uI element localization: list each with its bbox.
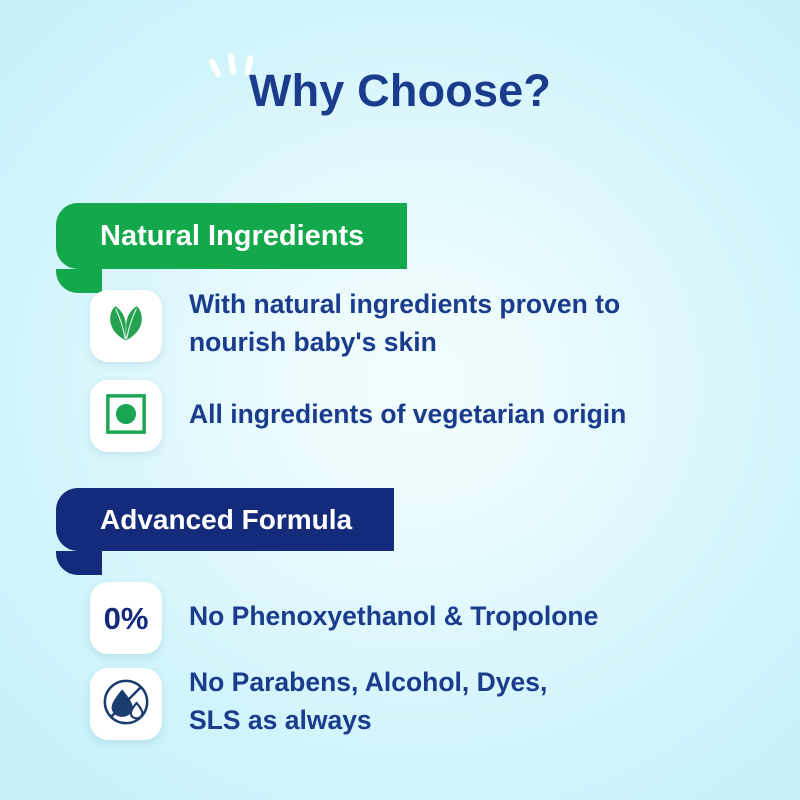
feature-row: With natural ingredients proven to nouri… <box>90 290 620 362</box>
sparkle-icon <box>206 52 266 92</box>
leaves-icon <box>103 301 149 352</box>
feature-text: All ingredients of vegetarian origin <box>189 396 626 434</box>
banner-tail <box>56 551 102 575</box>
icon-card <box>90 380 162 452</box>
feature-row: 0% No Phenoxyethanol & Tropolone <box>90 582 598 654</box>
no-water-drop-icon <box>101 677 151 732</box>
feature-text: No Parabens, Alcohol, Dyes, SLS as alway… <box>189 664 547 739</box>
section-banner-advanced-formula: Advanced Formula <box>56 488 394 551</box>
feature-text: With natural ingredients proven to nouri… <box>189 286 620 361</box>
icon-card <box>90 290 162 362</box>
feature-text: No Phenoxyethanol & Tropolone <box>189 598 598 636</box>
section-title-advanced-formula: Advanced Formula <box>100 506 352 534</box>
page-title: Why Choose? <box>0 68 800 113</box>
vegetarian-mark-icon <box>105 393 147 440</box>
why-choose-poster: Why Choose? Natural Ingredients With nat… <box>0 0 800 800</box>
zero-percent-icon: 0% <box>104 603 149 634</box>
section-banner-natural-ingredients: Natural Ingredients <box>56 203 407 269</box>
feature-row: No Parabens, Alcohol, Dyes, SLS as alway… <box>90 668 547 740</box>
icon-card: 0% <box>90 582 162 654</box>
title-block: Why Choose? <box>0 68 800 113</box>
icon-card <box>90 668 162 740</box>
feature-row: All ingredients of vegetarian origin <box>90 380 626 452</box>
section-title-natural-ingredients: Natural Ingredients <box>100 222 364 251</box>
